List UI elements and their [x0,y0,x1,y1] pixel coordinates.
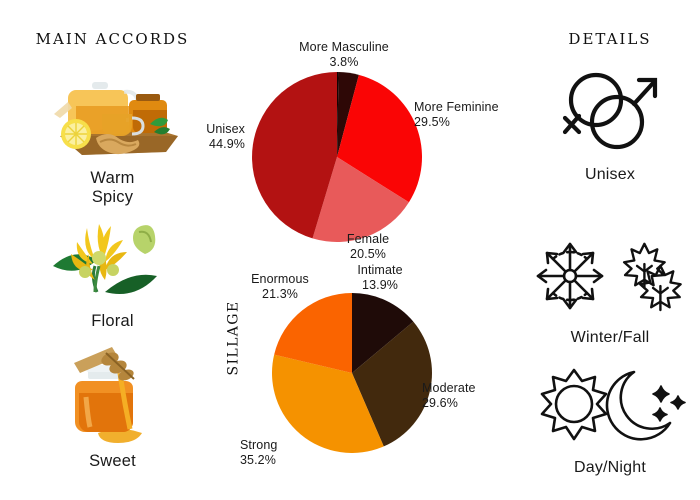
sillage-pie-chart [272,293,432,458]
slice-value: 3.8% [274,55,414,70]
slice-value: 21.3% [226,287,334,302]
slice-name: More Masculine [299,40,389,54]
slice-value: 35.2% [240,453,320,468]
accord-item-sweet: Sweet [0,345,225,471]
accord-label: Warm Spicy [0,169,225,207]
sillage-pie-svg [272,293,432,453]
slice-name: Enormous [251,272,309,286]
gender-slice-label-more-feminine: More Feminine 29.5% [414,100,534,130]
sillage-slice-label-intimate: Intimate 13.9% [330,263,430,293]
accord-item-floral: Floral [0,205,225,331]
slice-name: Unisex [206,122,245,136]
slice-value: 20.5% [318,247,418,262]
accord-label: Sweet [0,452,225,471]
unisex-gender-symbol-icon [520,62,700,162]
sillage-slice-label-moderate: Moderate 29.6% [422,381,532,411]
detail-label: Day/Night [520,459,700,477]
snowflake-maple-leaves-icon [520,225,700,325]
sillage-axis-title: SILLAGE [226,300,242,375]
slice-value: 44.9% [145,137,245,152]
slice-name: Strong [240,438,277,452]
accord-label-line1: Warm [90,169,134,187]
gender-slice-label-more-masculine: More Masculine 3.8% [274,40,414,70]
slice-name: Intimate [357,263,402,277]
gender-pie-chart [252,72,422,247]
sun-moon-stars-icon [520,355,700,455]
detail-item-gender: Unisex [520,62,700,184]
main-accords-heading: MAIN ACCORDS [0,30,225,48]
sillage-slice-label-enormous: Enormous 21.3% [226,272,334,302]
slice-value: 13.9% [330,278,430,293]
ylang-ylang-flower-image [0,205,225,310]
details-heading: DETAILS [520,30,700,48]
honey-jar-image [0,345,225,450]
sillage-slice-label-strong: Strong 35.2% [240,438,320,468]
slice-name: More Feminine [414,100,499,114]
gender-slice-label-unisex: Unisex 44.9% [145,122,245,152]
detail-item-season: Winter/Fall [520,225,700,347]
slice-value: 29.5% [414,115,534,130]
infographic-canvas: MAIN ACCORDS [0,0,700,500]
accord-label: Floral [0,312,225,331]
detail-item-time-of-day: Day/Night [520,355,700,477]
gender-pie-svg [252,72,422,242]
detail-label: Winter/Fall [520,329,700,347]
accord-label-line2: Spicy [92,188,133,206]
slice-name: Moderate [422,381,476,395]
slice-name: Female [347,232,389,246]
gender-slice-label-female: Female 20.5% [318,232,418,262]
detail-label: Unisex [520,166,700,184]
slice-value: 29.6% [422,396,532,411]
